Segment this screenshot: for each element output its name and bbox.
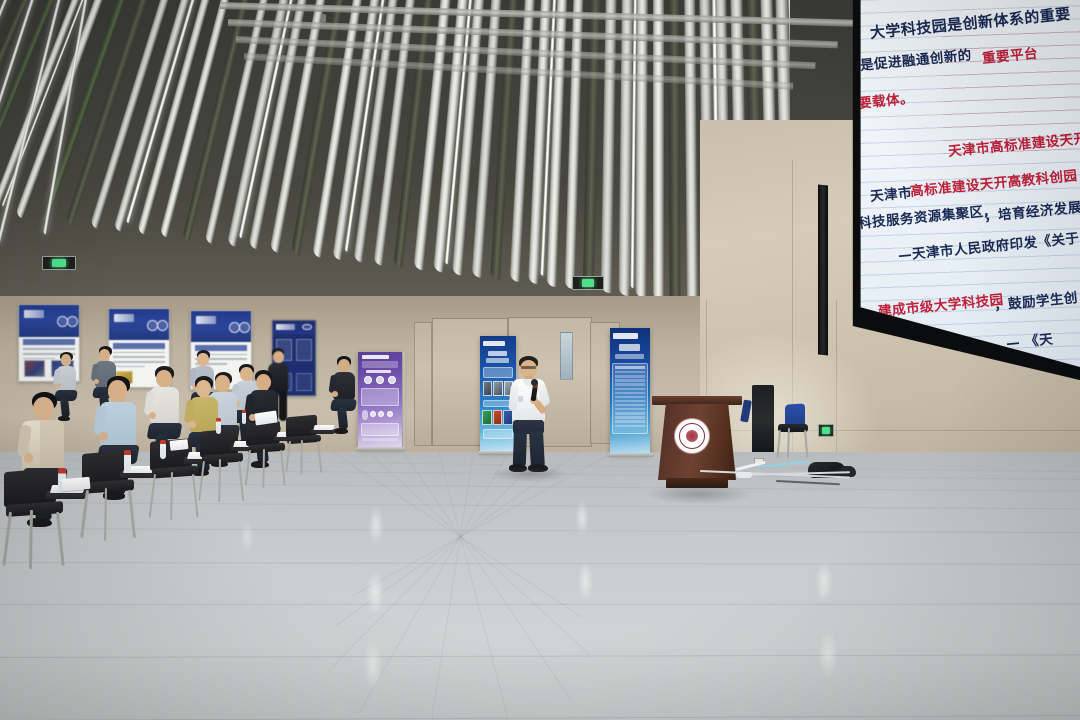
chair-leg bbox=[245, 450, 251, 486]
audience-hand bbox=[189, 421, 196, 428]
audience-hand bbox=[24, 453, 34, 463]
chair-leg bbox=[104, 488, 107, 541]
lecture-hall-photo: 大学科技园是创新体系的重要 是促进融通创新的 重要平台 要载体。 天津市高标准建… bbox=[0, 0, 1080, 720]
chair-leg bbox=[56, 512, 64, 566]
handout-2[interactable] bbox=[170, 439, 189, 451]
chair-seat[interactable] bbox=[84, 480, 134, 494]
chair-seat[interactable] bbox=[6, 501, 63, 517]
water-bottle-4[interactable] bbox=[216, 418, 221, 434]
chair-leg bbox=[238, 461, 244, 501]
chair-seat[interactable] bbox=[287, 434, 321, 443]
chair-leg bbox=[218, 459, 221, 502]
handout-3[interactable] bbox=[62, 477, 91, 491]
chair-leg bbox=[128, 490, 136, 538]
chair-leg bbox=[262, 449, 264, 488]
audience-group bbox=[0, 0, 1080, 720]
chair-seat[interactable] bbox=[202, 453, 243, 464]
chair-leg bbox=[199, 461, 206, 501]
audience-hand bbox=[56, 383, 61, 388]
chair-leg bbox=[170, 472, 173, 520]
notepad[interactable] bbox=[313, 425, 334, 430]
chair-leg bbox=[148, 474, 156, 518]
water-bottle-5[interactable] bbox=[242, 410, 246, 424]
chair-leg bbox=[301, 440, 303, 475]
audience-shoe bbox=[334, 428, 348, 434]
water-bottle-2[interactable] bbox=[124, 450, 131, 472]
chair-leg bbox=[317, 441, 322, 473]
chair-front-2[interactable] bbox=[82, 452, 156, 547]
chair-leg bbox=[80, 490, 88, 538]
chair-leg bbox=[2, 512, 11, 566]
chair-back-1[interactable] bbox=[286, 416, 335, 479]
water-bottle-3[interactable] bbox=[160, 440, 166, 459]
chair-leg bbox=[29, 510, 33, 569]
audience-hand bbox=[332, 391, 338, 397]
chair-leg bbox=[285, 441, 291, 473]
